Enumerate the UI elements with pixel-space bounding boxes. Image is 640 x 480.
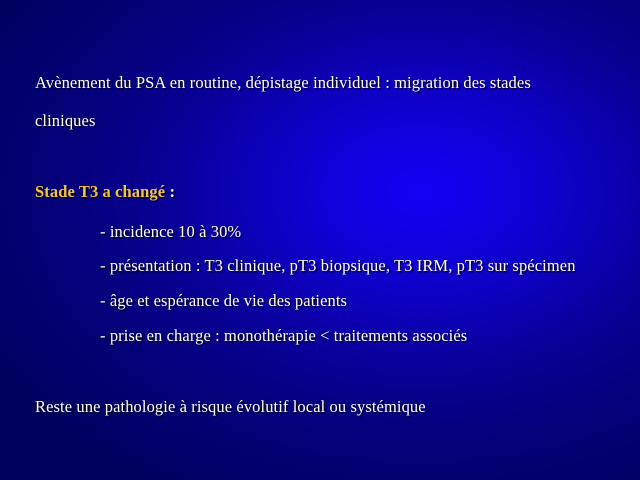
- presentation-slide: Avènement du PSA en routine, dépistage i…: [0, 0, 640, 480]
- bullet-item: - présentation : T3 clinique, pT3 biopsi…: [100, 256, 576, 276]
- section-heading-text: Stade T3 a changé: [35, 182, 165, 201]
- bullet-item: - incidence 10 à 30%: [100, 222, 241, 242]
- section-heading-separator: :: [165, 182, 175, 201]
- intro-paragraph-line-1: Avènement du PSA en routine, dépistage i…: [35, 75, 531, 92]
- closing-paragraph: Reste une pathologie à risque évolutif l…: [35, 397, 426, 417]
- bullet-item: - prise en charge : monothérapie < trait…: [100, 326, 467, 346]
- bullet-item: - âge et espérance de vie des patients: [100, 291, 347, 311]
- section-heading: Stade T3 a changé :: [35, 182, 175, 202]
- intro-paragraph-line-2: cliniques: [35, 113, 95, 130]
